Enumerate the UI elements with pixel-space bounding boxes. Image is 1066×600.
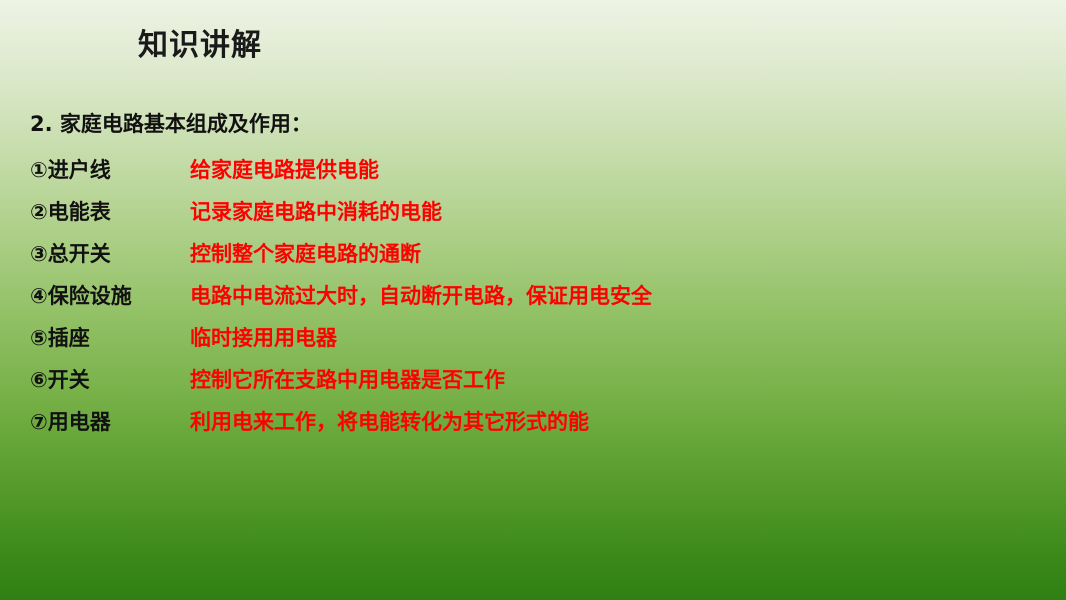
list-item-label: ④保险设施 — [30, 280, 190, 310]
list-item-description: 临时接用用电器 — [190, 322, 337, 352]
list-item-label: ②电能表 — [30, 196, 190, 226]
list-item-label: ①进户线 — [30, 154, 190, 184]
list-item-description: 利用电来工作，将电能转化为其它形式的能 — [190, 406, 589, 436]
list-item-description: 给家庭电路提供电能 — [190, 154, 379, 184]
list-item: ⑦用电器 利用电来工作，将电能转化为其它形式的能 — [30, 406, 1040, 436]
list-item-description: 控制整个家庭电路的通断 — [190, 238, 421, 268]
list-item: ③总开关 控制整个家庭电路的通断 — [30, 238, 1040, 268]
list-item-description: 电路中电流过大时，自动断开电路，保证用电安全 — [190, 280, 652, 310]
list-item: ①进户线 给家庭电路提供电能 — [30, 154, 1040, 184]
list-item-label: ⑦用电器 — [30, 406, 190, 436]
list-item-label: ⑤插座 — [30, 322, 190, 352]
section-heading: 2. 家庭电路基本组成及作用： — [30, 108, 1040, 138]
list-item-description: 记录家庭电路中消耗的电能 — [190, 196, 442, 226]
list-item-label: ③总开关 — [30, 238, 190, 268]
page-title: 知识讲解 — [138, 20, 262, 64]
list-item-description: 控制它所在支路中用电器是否工作 — [190, 364, 505, 394]
list-item: ②电能表 记录家庭电路中消耗的电能 — [30, 196, 1040, 226]
list-item: ⑤插座 临时接用用电器 — [30, 322, 1040, 352]
content-block: 2. 家庭电路基本组成及作用： ①进户线 给家庭电路提供电能 ②电能表 记录家庭… — [30, 108, 1040, 448]
list-item: ⑥开关 控制它所在支路中用电器是否工作 — [30, 364, 1040, 394]
list-item-label: ⑥开关 — [30, 364, 190, 394]
slide-canvas: 知识讲解 2. 家庭电路基本组成及作用： ①进户线 给家庭电路提供电能 ②电能表… — [0, 0, 1066, 600]
list-item: ④保险设施 电路中电流过大时，自动断开电路，保证用电安全 — [30, 280, 1040, 310]
